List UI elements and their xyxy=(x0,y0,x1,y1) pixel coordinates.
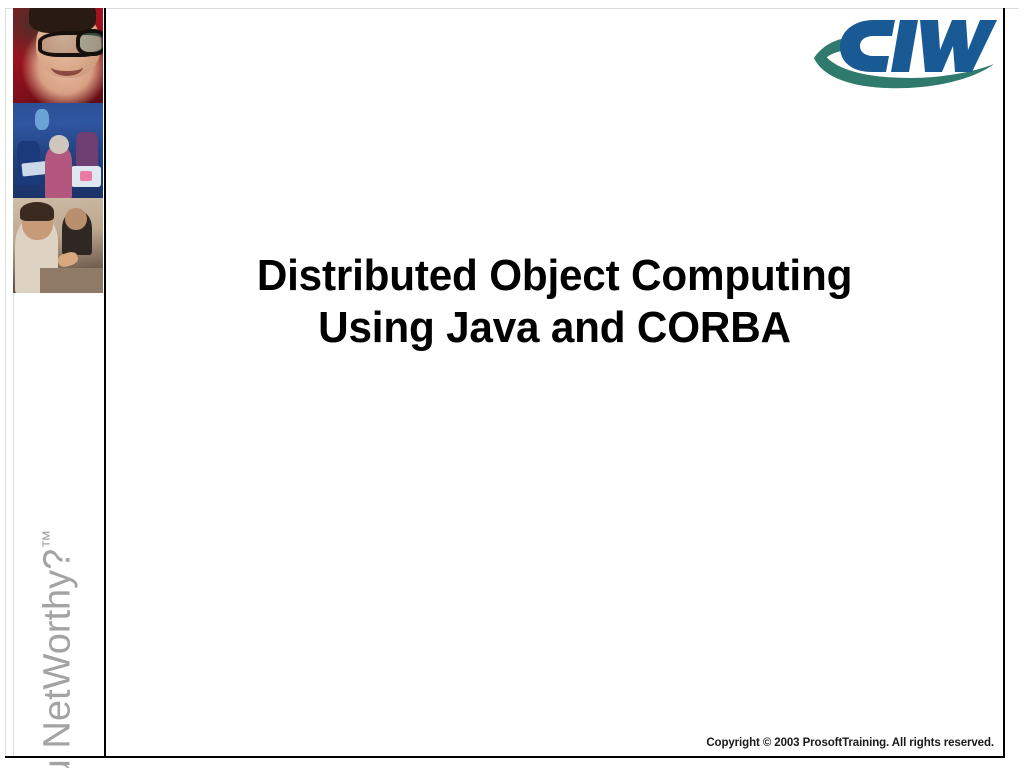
presentation-slide: Are You NetWorthy?™ ™ Distributed Object… xyxy=(0,0,1024,768)
slide-right-border xyxy=(1003,8,1005,758)
title-line-2: Using Java and CORBA xyxy=(124,302,985,354)
logo-trademark-icon: ™ xyxy=(982,19,994,33)
photo-woman-at-desk xyxy=(13,198,103,293)
photo-man-red-shirt-glasses xyxy=(13,8,103,103)
logo-letter-c xyxy=(840,20,895,72)
photo-classroom-blue xyxy=(13,103,103,198)
slide-bottom-border xyxy=(5,756,1005,758)
sidebar-vertical-tagline: Are You NetWorthy?™ xyxy=(13,300,101,730)
copyright-footer: Copyright © 2003 ProsoftTraining. All ri… xyxy=(106,737,1000,749)
tagline-text: Are You NetWorthy? xyxy=(36,549,78,768)
title-line-1: Distributed Object Computing xyxy=(124,250,985,302)
slide-left-guide-line-outer xyxy=(5,8,6,756)
ciw-logo: ™ xyxy=(812,14,998,90)
slide-top-guide-line xyxy=(5,8,1019,9)
page-title: Distributed Object Computing Using Java … xyxy=(106,250,1003,354)
sidebar-photo-strip xyxy=(13,8,103,293)
tagline-trademark-icon: ™ xyxy=(39,530,60,549)
sidebar-divider xyxy=(104,8,106,758)
logo-letter-i xyxy=(891,20,918,72)
